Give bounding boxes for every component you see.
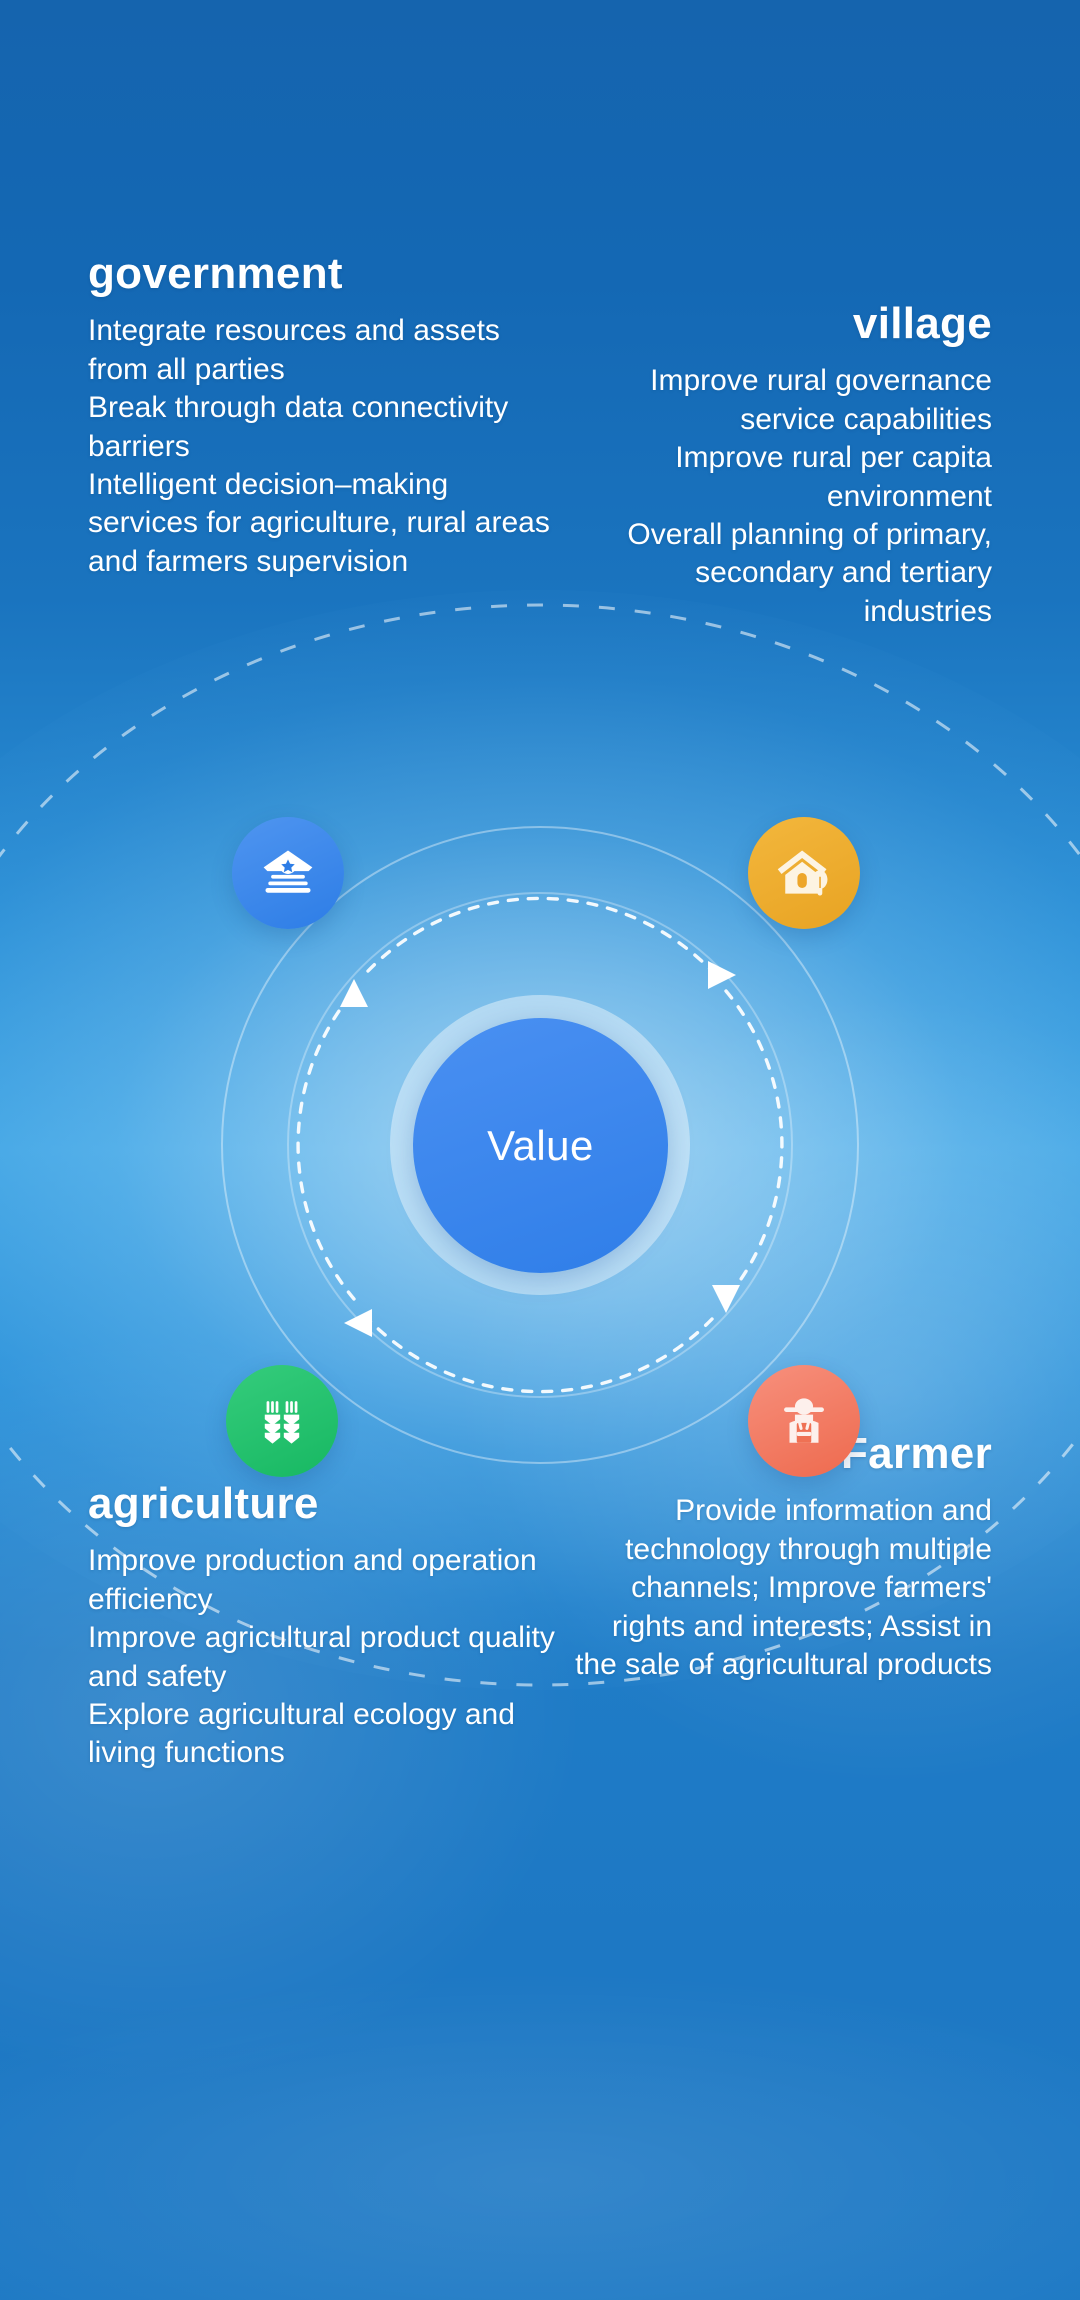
center-value-circle[interactable]: Value: [413, 1018, 668, 1273]
block-agriculture-body: Improve production and operation efficie…: [88, 1542, 558, 1772]
arrowhead-to-village: [708, 961, 736, 989]
node-agriculture[interactable]: [226, 1365, 338, 1477]
arc-government-to-village: [368, 898, 712, 971]
arrowhead-to-farmer: [712, 1285, 740, 1313]
arrowhead-to-government: [340, 979, 368, 1007]
block-government-title: government: [88, 250, 558, 298]
block-government: government Integrate resources and asset…: [88, 250, 558, 581]
node-farmer[interactable]: [748, 1365, 860, 1477]
house-with-tree-icon: [774, 843, 834, 903]
arrowhead-to-agriculture: [344, 1309, 372, 1337]
node-government[interactable]: [232, 817, 344, 929]
center-value-label: Value: [487, 1122, 594, 1170]
farmer-with-hat-icon: [775, 1392, 833, 1450]
block-village: village Improve rural governance service…: [572, 300, 992, 631]
government-building-icon: [258, 843, 318, 903]
infographic-canvas: government Integrate resources and asset…: [0, 0, 1080, 2300]
block-village-body: Improve rural governance service capabil…: [572, 362, 992, 631]
bottom-glow: [0, 1970, 1080, 2300]
node-village[interactable]: [748, 817, 860, 929]
arc-village-to-farmer: [726, 991, 782, 1299]
value-cycle-diagram: Value: [160, 765, 920, 1525]
block-government-body: Integrate resources and assets from all …: [88, 312, 558, 581]
arc-agriculture-to-government: [298, 991, 354, 1299]
block-village-title: village: [572, 300, 992, 348]
arc-farmer-to-agriculture: [368, 1319, 712, 1392]
wheat-stalks-icon: [253, 1392, 311, 1450]
